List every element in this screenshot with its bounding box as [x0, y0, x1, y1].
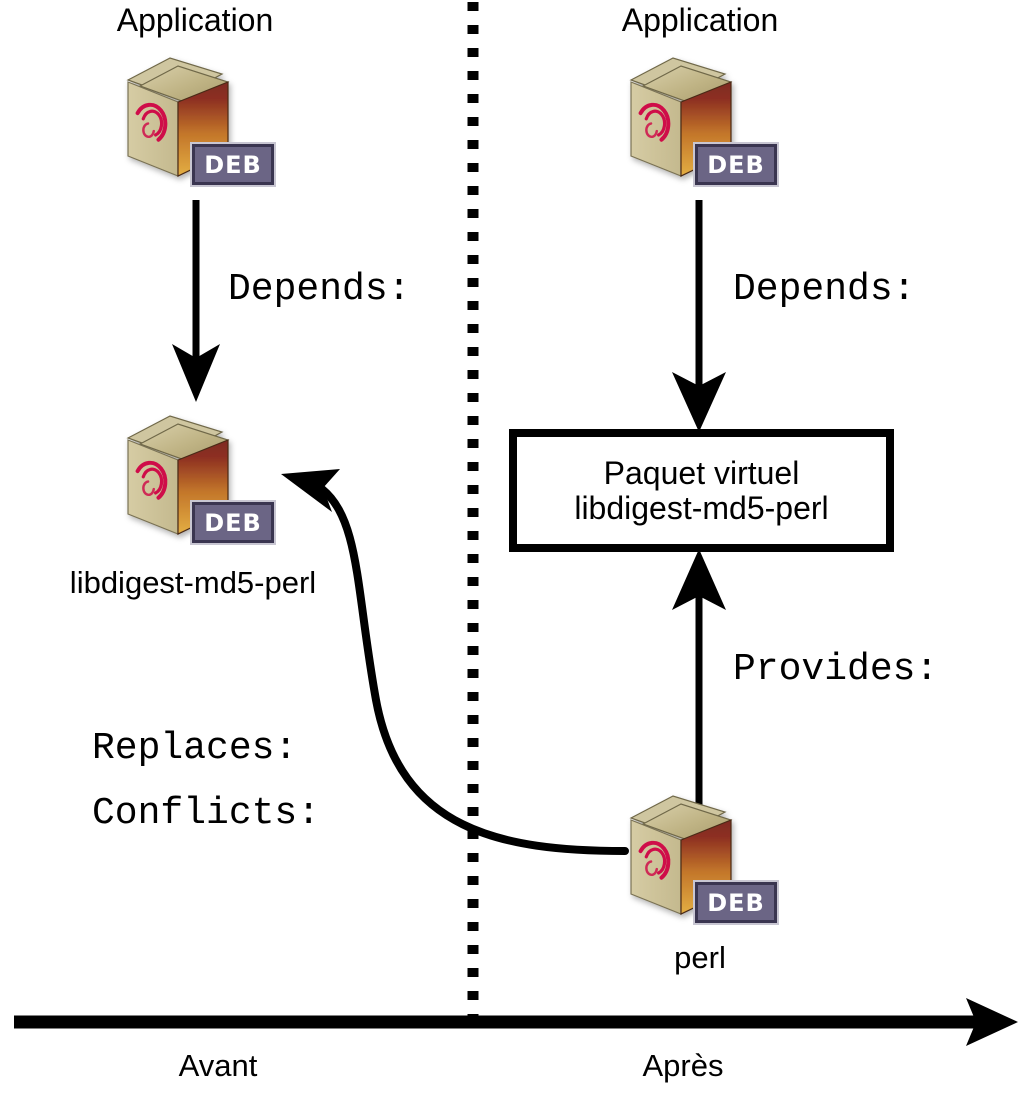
- label-application-before: Application: [117, 2, 274, 39]
- label-depends-before: Depends:: [228, 268, 410, 311]
- virtual-box-line-1: Paquet virtuel: [604, 456, 800, 490]
- virtual-box-line-2: libdigest-md5-perl: [574, 491, 828, 525]
- deb-badge-libdigest-before: DEB: [192, 502, 274, 543]
- label-provides: Provides:: [733, 648, 938, 691]
- arrow-depends-before: [172, 200, 220, 402]
- label-replaces: Replaces:: [92, 727, 297, 770]
- deb-badge-text: DEB: [707, 891, 765, 915]
- arrow-depends-after: [672, 200, 726, 432]
- label-conflicts: Conflicts:: [92, 792, 320, 835]
- time-axis: [14, 998, 1018, 1046]
- deb-badge-app-before: DEB: [192, 144, 274, 185]
- deb-badge-text: DEB: [204, 511, 262, 535]
- virtual-package-box-text: Paquet virtuel libdigest-md5-perl: [513, 433, 890, 548]
- arrow-provides: [672, 549, 726, 805]
- label-application-after: Application: [622, 2, 779, 39]
- diagram-canvas: Application Depends: libdigest-md5-perl …: [0, 0, 1024, 1094]
- label-depends-after: Depends:: [733, 268, 915, 311]
- label-libdigest-md5-perl-before: libdigest-md5-perl: [70, 565, 316, 601]
- deb-badge-text: DEB: [707, 153, 765, 177]
- label-perl: perl: [674, 940, 726, 976]
- deb-badge-app-after: DEB: [695, 144, 777, 185]
- deb-badge-text: DEB: [204, 153, 262, 177]
- label-apres: Après: [643, 1048, 724, 1084]
- deb-badge-perl: DEB: [695, 882, 777, 923]
- label-avant: Avant: [179, 1048, 258, 1084]
